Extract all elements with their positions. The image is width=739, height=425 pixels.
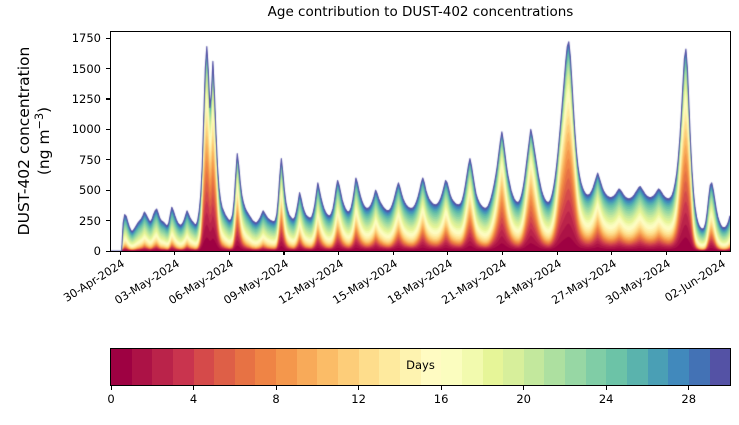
colorbar-band: [586, 349, 607, 385]
colorbar: [110, 348, 731, 386]
colorbar-band: [132, 349, 153, 385]
colorbar-band: [297, 349, 318, 385]
colorbar-band: [400, 349, 421, 385]
colorbar-band: [194, 349, 215, 385]
colorbar-tick-label: 12: [351, 392, 366, 406]
colorbar-tick-mark: [276, 386, 277, 390]
x-tick-mark: [447, 251, 448, 255]
colorbar-band: [359, 349, 380, 385]
colorbar-tick-mark: [111, 386, 112, 390]
y-tick-label: 500: [0, 183, 110, 197]
colorbar-band: [173, 349, 194, 385]
chart-title: Age contribution to DUST-402 concentrati…: [110, 4, 731, 20]
x-tick-mark: [611, 251, 612, 255]
figure: Age contribution to DUST-402 concentrati…: [0, 0, 739, 425]
x-tick-mark: [720, 251, 721, 255]
x-tick-mark: [120, 251, 121, 255]
y-tick-label: 1250: [0, 92, 110, 106]
colorbar-band: [379, 349, 400, 385]
colorbar-band: [689, 349, 710, 385]
x-tick-mark: [502, 251, 503, 255]
colorbar-band: [235, 349, 256, 385]
colorbar-tick-mark: [606, 386, 607, 390]
y-axis-label-unit-close: ): [35, 107, 53, 113]
colorbar-band: [503, 349, 524, 385]
y-tick-label: 750: [0, 153, 110, 167]
colorbar-band: [483, 349, 504, 385]
y-tick-label: 0: [0, 244, 110, 258]
x-tick-mark: [557, 251, 558, 255]
colorbar-band: [668, 349, 689, 385]
x-tick-mark: [283, 251, 284, 255]
colorbar-tick-mark: [523, 386, 524, 390]
colorbar-band: [462, 349, 483, 385]
colorbar-band: [710, 349, 731, 385]
x-tick-mark: [174, 251, 175, 255]
stacked-area-plot: [111, 32, 730, 251]
colorbar-tick-label: 8: [272, 392, 279, 406]
colorbar-tick-mark: [688, 386, 689, 390]
colorbar-tick-label: 0: [107, 392, 114, 406]
plot-axes: [110, 31, 731, 252]
colorbar-band: [152, 349, 173, 385]
colorbar-band: [338, 349, 359, 385]
colorbar-tick-label: 24: [599, 392, 614, 406]
colorbar-tick-label: 4: [190, 392, 197, 406]
colorbar-band: [317, 349, 338, 385]
colorbar-tick-mark: [358, 386, 359, 390]
x-tick-mark: [393, 251, 394, 255]
colorbar-band: [214, 349, 235, 385]
x-tick-mark: [229, 251, 230, 255]
colorbar-tick-label: 20: [516, 392, 531, 406]
y-tick-label: 1000: [0, 122, 110, 136]
colorbar-band: [255, 349, 276, 385]
colorbar-band: [524, 349, 545, 385]
colorbar-band: [111, 349, 132, 385]
x-tick-mark: [338, 251, 339, 255]
colorbar-tick-mark: [193, 386, 194, 390]
colorbar-band: [606, 349, 627, 385]
colorbar-tick-mark: [441, 386, 442, 390]
y-tick-label: 1500: [0, 62, 110, 76]
x-tick-mark: [666, 251, 667, 255]
colorbar-band: [421, 349, 442, 385]
colorbar-tick-label: 16: [434, 392, 449, 406]
colorbar-band: [276, 349, 297, 385]
colorbar-tick-label: 28: [681, 392, 696, 406]
y-tick-label: 1750: [0, 31, 110, 45]
colorbar-band: [441, 349, 462, 385]
colorbar-band: [544, 349, 565, 385]
y-tick-label: 250: [0, 214, 110, 228]
colorbar-band: [648, 349, 669, 385]
colorbar-band: [565, 349, 586, 385]
colorbar-band: [627, 349, 648, 385]
